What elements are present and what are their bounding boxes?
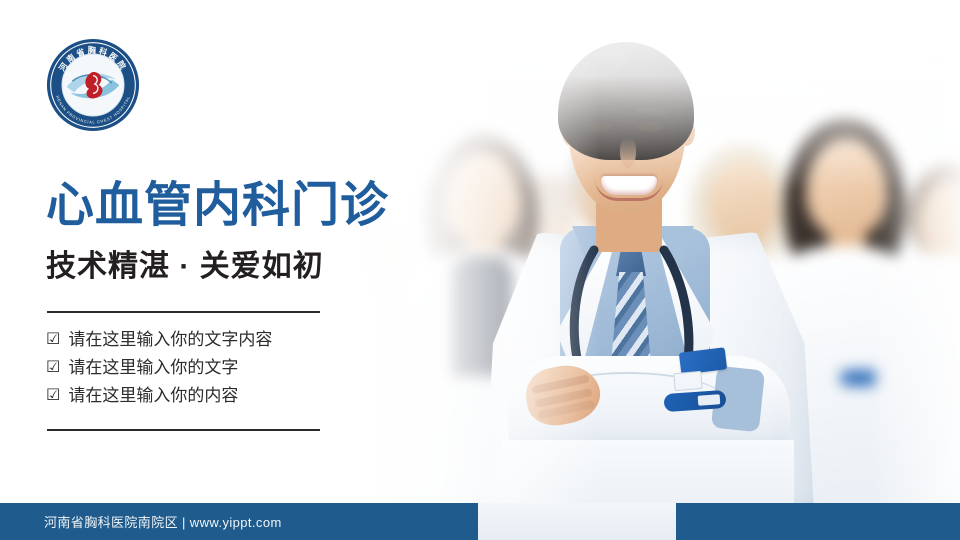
team-photo [300,0,960,510]
doctor-coat-overlap [478,503,676,540]
list-item-label: 请在这里输入你的文字内容 [68,326,272,354]
list-item-label: 请在这里输入你的内容 [68,382,238,410]
foreground-doctor [468,0,828,510]
checkbox-checked-icon: ☑ [46,382,60,410]
list-item: ☑ 请在这里输入你的文字 [46,354,366,382]
slide-root: 河南省胸科医院 HENAN PROVINCIAL CHEST HOSPITAL … [0,0,960,540]
checkbox-checked-icon: ☑ [46,354,60,382]
page-subtitle: 技术精湛 · 关爱如初 [46,252,324,282]
bullet-list: ☑ 请在这里输入你的文字内容 ☑ 请在这里输入你的文字 ☑ 请在这里输入你的内容 [46,326,366,410]
hospital-logo: 河南省胸科医院 HENAN PROVINCIAL CHEST HOSPITAL [46,38,140,132]
list-item: ☑ 请在这里输入你的文字内容 [46,326,366,354]
page-title: 心血管内科门诊 [46,182,389,230]
divider-bottom [47,429,320,431]
list-item: ☑ 请在这里输入你的内容 [46,382,366,410]
list-item-label: 请在这里输入你的文字 [68,354,238,382]
divider-top [47,311,320,313]
checkbox-checked-icon: ☑ [46,326,60,354]
footer-label: 河南省胸科医院南院区 | www.yippt.com [44,503,282,540]
